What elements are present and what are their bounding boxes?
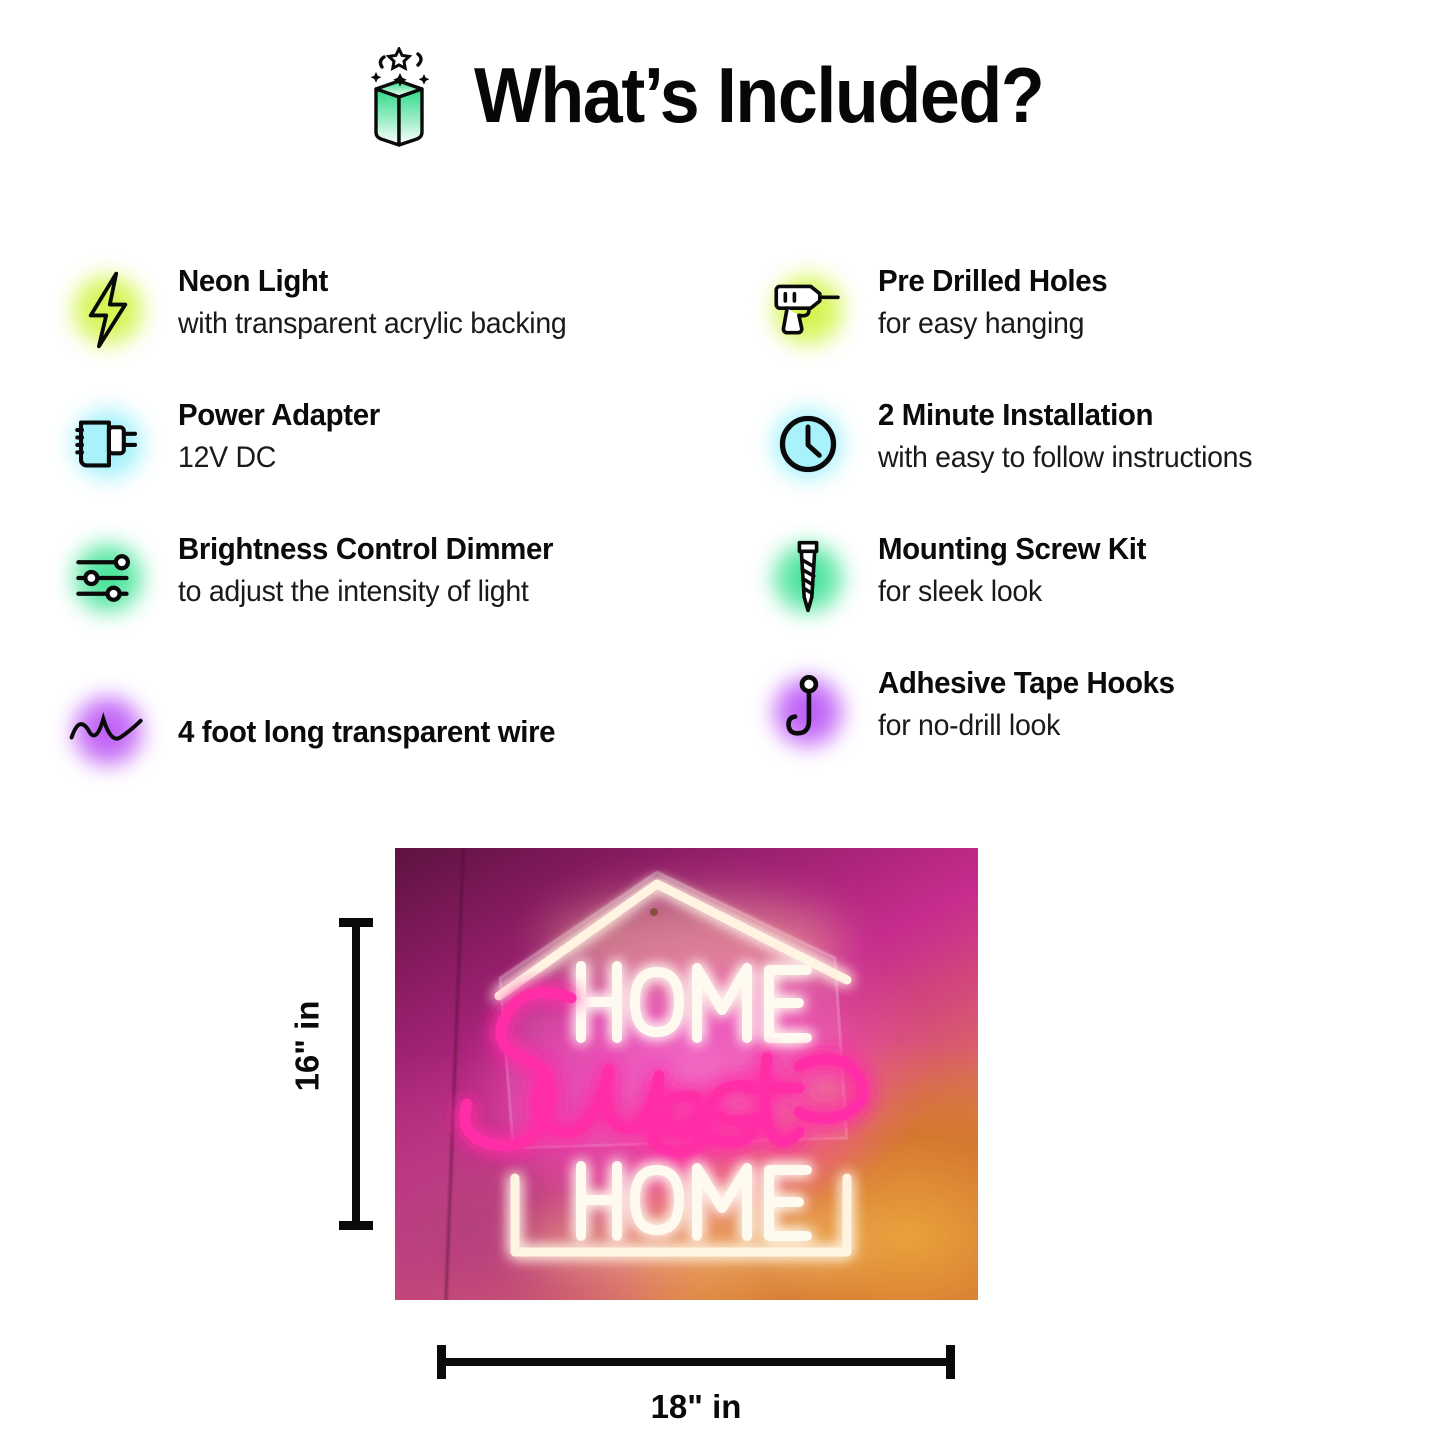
- product-photo-area: 16" in: [0, 845, 1445, 1445]
- feature-title: Brightness Control Dimmer: [178, 532, 553, 567]
- page-title: What’s Included?: [474, 56, 1043, 134]
- feature-subtitle: for sleek look: [878, 574, 1146, 610]
- neon-sign-graphic: [395, 848, 978, 1300]
- height-dimension-label: 16" in: [288, 1001, 326, 1092]
- feature-text: Power Adapter 12V DC: [178, 396, 390, 476]
- feature-subtitle: to adjust the intensity of light: [178, 574, 553, 610]
- feature-title: Mounting Screw Kit: [878, 532, 1146, 567]
- dimension-cap: [437, 1345, 446, 1379]
- feature-brightness-dimmer: Brightness Control Dimmer to adjust the …: [60, 530, 760, 664]
- feature-text: Brightness Control Dimmer to adjust the …: [178, 530, 573, 610]
- feature-subtitle: with transparent acrylic backing: [178, 306, 566, 342]
- feature-title: Adhesive Tape Hooks: [878, 666, 1175, 701]
- feature-title: 4 foot long transparent wire: [178, 715, 555, 750]
- feature-text: Pre Drilled Holes for easy hanging: [878, 262, 1119, 342]
- screw-icon: [760, 530, 856, 626]
- feature-text: Adhesive Tape Hooks for no-drill look: [878, 664, 1190, 744]
- lightning-bolt-icon: [60, 262, 156, 358]
- feature-title: Power Adapter: [178, 398, 380, 433]
- feature-text: Neon Light with transparent acrylic back…: [178, 262, 587, 342]
- height-dimension-line: [352, 918, 360, 1230]
- dimmer-sliders-icon: [60, 530, 156, 626]
- feature-subtitle: for easy hanging: [878, 306, 1107, 342]
- feature-title: Pre Drilled Holes: [878, 264, 1107, 299]
- feature-subtitle: for no-drill look: [878, 708, 1175, 744]
- hook-icon: [760, 664, 856, 760]
- open-gift-box-icon: [352, 47, 448, 151]
- feature-text: 2 Minute Installation with easy to follo…: [878, 396, 1272, 476]
- feature-pre-drilled-holes: Pre Drilled Holes for easy hanging: [760, 262, 1445, 396]
- power-drill-icon: [760, 262, 856, 358]
- feature-text: 4 foot long transparent wire: [178, 713, 575, 750]
- clock-icon: [760, 396, 856, 492]
- width-dimension-line: [437, 1358, 955, 1366]
- dimension-cap: [339, 918, 373, 927]
- feature-adhesive-tape-hooks: Adhesive Tape Hooks for no-drill look: [760, 664, 1445, 798]
- feature-power-adapter: Power Adapter 12V DC: [60, 396, 760, 530]
- feature-title: Neon Light: [178, 264, 566, 299]
- dimension-cap: [339, 1221, 373, 1230]
- feature-text: Mounting Screw Kit for sleek look: [878, 530, 1160, 610]
- feature-2-minute-installation: 2 Minute Installation with easy to follo…: [760, 396, 1445, 530]
- feature-subtitle: with easy to follow instructions: [878, 440, 1252, 476]
- features-column-right: Pre Drilled Holes for easy hanging 2 Min…: [760, 262, 1445, 798]
- feature-transparent-wire: 4 foot long transparent wire: [60, 664, 760, 798]
- feature-title: 2 Minute Installation: [878, 398, 1252, 433]
- power-adapter-icon: [60, 396, 156, 492]
- product-photo: [395, 848, 978, 1300]
- feature-neon-light: Neon Light with transparent acrylic back…: [60, 262, 760, 396]
- width-dimension-label: 18" in: [437, 1388, 955, 1426]
- wavy-wire-icon: [60, 683, 156, 779]
- features-column-left: Neon Light with transparent acrylic back…: [60, 262, 760, 798]
- page-header: What’s Included?: [0, 0, 1445, 128]
- feature-subtitle: 12V DC: [178, 440, 380, 476]
- feature-mounting-screw-kit: Mounting Screw Kit for sleek look: [760, 530, 1445, 664]
- features-grid: Neon Light with transparent acrylic back…: [0, 262, 1445, 798]
- dimension-cap: [946, 1345, 955, 1379]
